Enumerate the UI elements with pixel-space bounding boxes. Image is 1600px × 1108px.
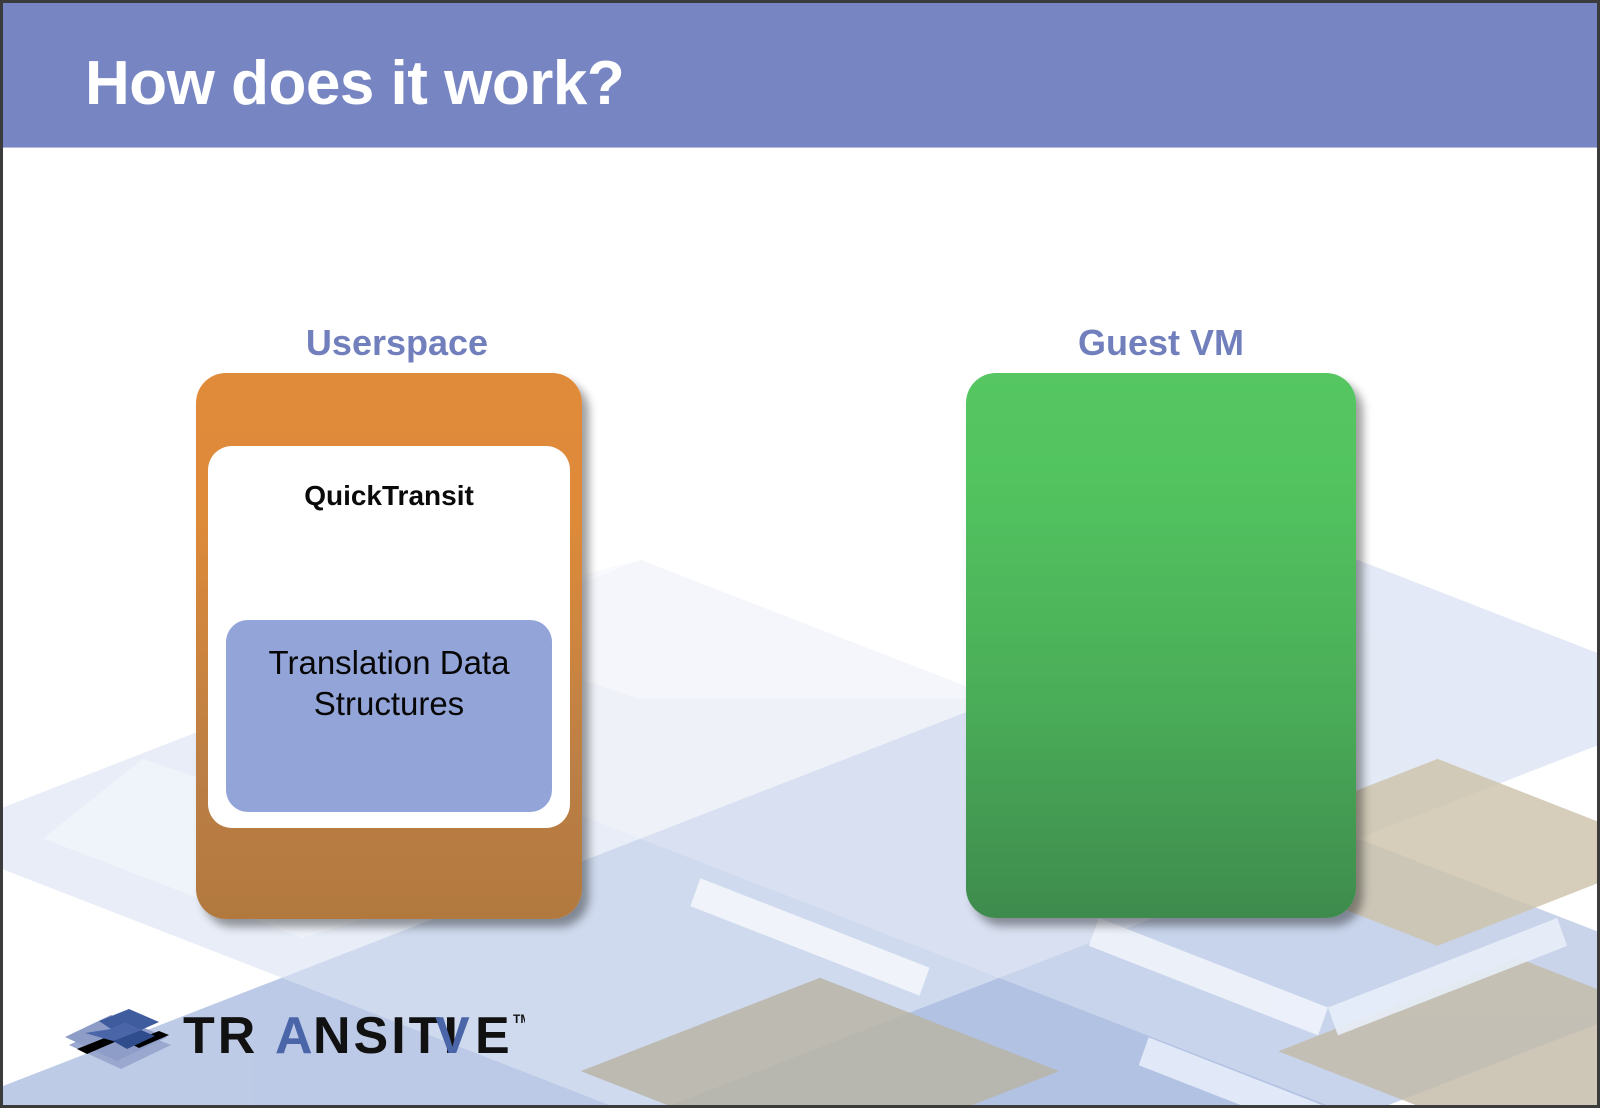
svg-text:V: V — [435, 1007, 473, 1065]
transitive-logo: TR A NSITI V E TM — [55, 991, 525, 1083]
translation-data-structures-box: Translation Data Structures — [226, 620, 552, 812]
guest-vm-box — [966, 373, 1356, 918]
svg-text:TR: TR — [183, 1007, 258, 1065]
quicktransit-label: QuickTransit — [208, 482, 570, 510]
svg-text:A: A — [275, 1007, 316, 1065]
translation-data-structures-label: Translation Data Structures — [226, 642, 552, 725]
tds-label-line-1: Translation Data — [226, 642, 552, 683]
userspace-box: QuickTransit Translation Data Structures — [196, 373, 582, 919]
transitive-wordmark: TR A NSITI V E TM — [183, 1005, 525, 1067]
guest-vm-column-label: Guest VM — [966, 325, 1356, 361]
tds-label-line-2: Structures — [226, 683, 552, 724]
slide-canvas: How does it work? Userspace Guest VM Qui… — [0, 0, 1600, 1108]
transitive-logo-mark — [55, 999, 185, 1077]
page-title: How does it work? — [85, 53, 624, 115]
userspace-column-label: Userspace — [196, 325, 598, 361]
quicktransit-panel: QuickTransit Translation Data Structures — [208, 446, 570, 828]
trademark-symbol: TM — [513, 1012, 525, 1026]
svg-text:E: E — [475, 1007, 513, 1065]
slide-title-bar: How does it work? — [3, 3, 1597, 147]
